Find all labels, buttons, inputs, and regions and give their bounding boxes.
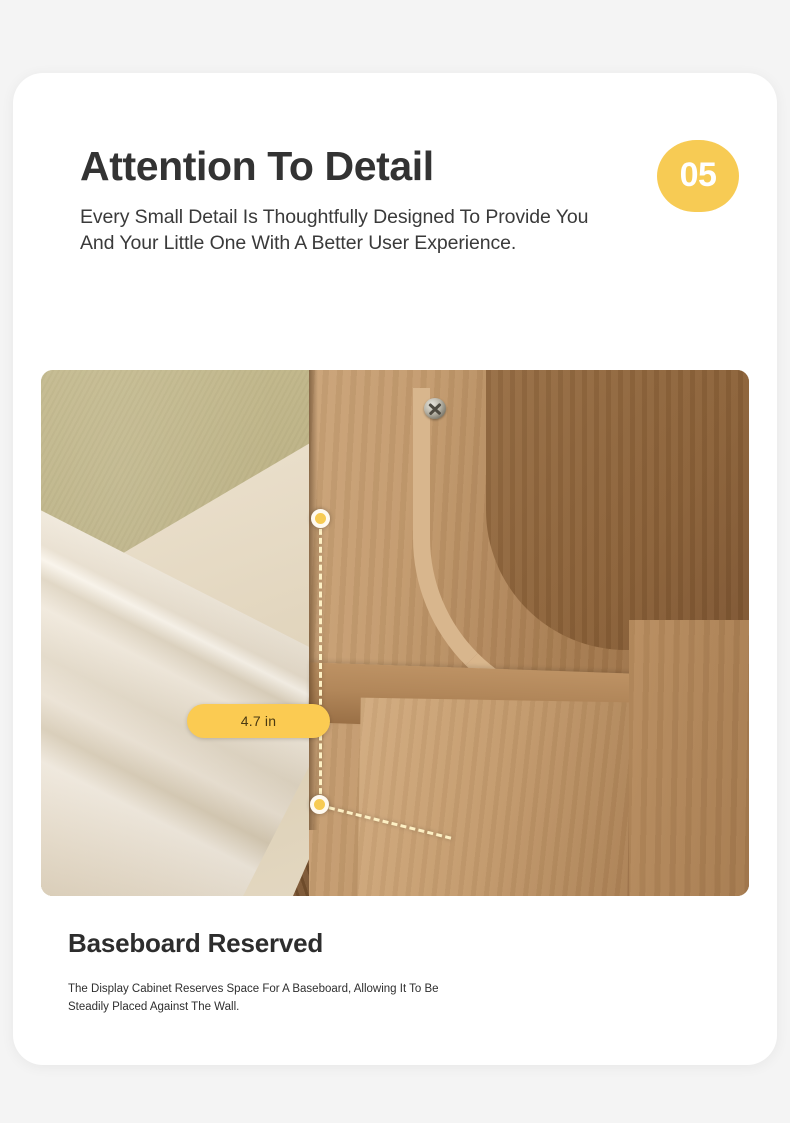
screw-icon [424,398,446,419]
caption-title: Baseboard Reserved [68,928,708,959]
measurement-endpoint-bottom [310,795,329,814]
step-number-badge: 05 [657,140,739,212]
step-number-label: 05 [680,158,717,192]
measurement-line-vertical [319,520,322,803]
caption-body: The Display Cabinet Reserves Space For A… [68,981,453,1017]
page-subtitle: Every Small Detail Is Thoughtfully Desig… [80,205,620,257]
caption-block: Baseboard Reserved The Display Cabinet R… [68,928,708,1017]
cabinet-plinth-panel [357,698,630,896]
detail-card: Attention To Detail Every Small Detail I… [13,73,777,1065]
measurement-endpoint-top [311,509,330,528]
cabinet-side-panel [629,620,749,896]
cabinet-wall-gap-shadow [309,370,318,830]
measurement-value: 4.7 in [241,713,276,729]
page-title: Attention To Detail [80,145,737,188]
product-detail-photo: 4.7 in [41,370,749,896]
measurement-badge: 4.7 in [187,704,330,738]
